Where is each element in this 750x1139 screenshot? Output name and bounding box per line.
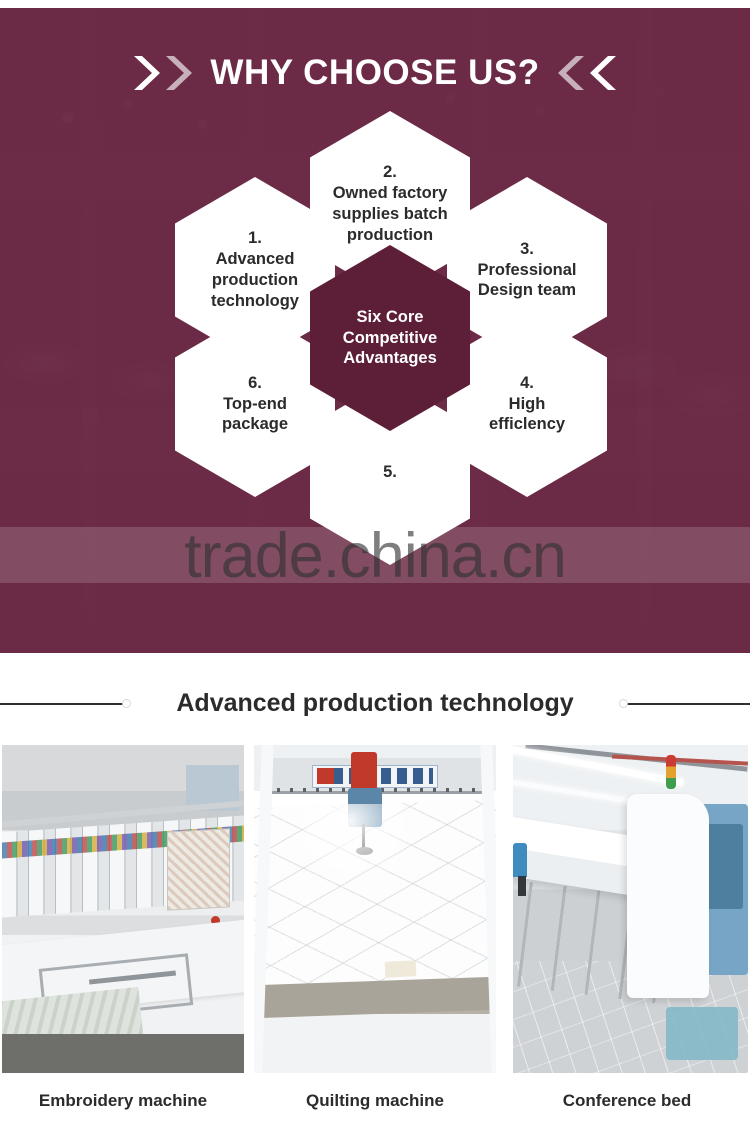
- chevron-right-faded-icon: [162, 53, 192, 93]
- chevron-left-icon: [590, 53, 620, 93]
- gallery-captions: Embroidery machine Quilting machine Conf…: [2, 1081, 748, 1121]
- gallery-item-conference-bed[interactable]: [506, 745, 748, 1073]
- gallery-item-embroidery-machine[interactable]: [2, 745, 244, 1073]
- right-chevron-group: [558, 53, 620, 93]
- hex-advantage-2-label: 2. Owned factory supplies batch producti…: [323, 162, 457, 245]
- gallery-grid: [2, 745, 748, 1073]
- caption-embroidery-machine: Embroidery machine: [2, 1081, 244, 1121]
- hex-advantage-4-label: 4. High efficlency: [480, 373, 574, 435]
- six-advantages-hex-diagram: 2. Owned factory supplies batch producti…: [165, 111, 615, 526]
- hex-advantage-6-label: 6. Top-end package: [213, 373, 297, 435]
- hex-center-core-label: Six Core Competitive Advantages: [334, 307, 446, 369]
- quilting-machine-photo: [254, 745, 496, 1073]
- advanced-production-section: Advanced production technology: [0, 653, 750, 1139]
- hex-advantage-1-label: 1. Advanced production technology: [202, 228, 308, 311]
- chevron-left-faded-icon: [558, 53, 588, 93]
- gallery-item-quilting-machine[interactable]: [254, 745, 496, 1073]
- hex-advantage-3-label: 3. Professional Design team: [468, 239, 585, 301]
- caption-conference-bed: Conference bed: [506, 1081, 748, 1121]
- why-choose-us-hero: WHY CHOOSE US? 2. Owned factory supplies…: [0, 8, 750, 653]
- hex-advantage-5-label: 5.: [374, 462, 406, 483]
- hex-advantage-4: 4. High efficlency: [447, 311, 607, 497]
- chevron-right-icon: [130, 53, 160, 93]
- caption-quilting-machine: Quilting machine: [254, 1081, 496, 1121]
- page-title: WHY CHOOSE US?: [210, 53, 539, 93]
- left-chevron-group: [130, 53, 192, 93]
- section-title: Advanced production technology: [0, 689, 750, 718]
- hero-title-row: WHY CHOOSE US?: [0, 46, 750, 100]
- conference-bed-photo: [506, 745, 748, 1073]
- embroidery-machine-photo: [2, 745, 244, 1073]
